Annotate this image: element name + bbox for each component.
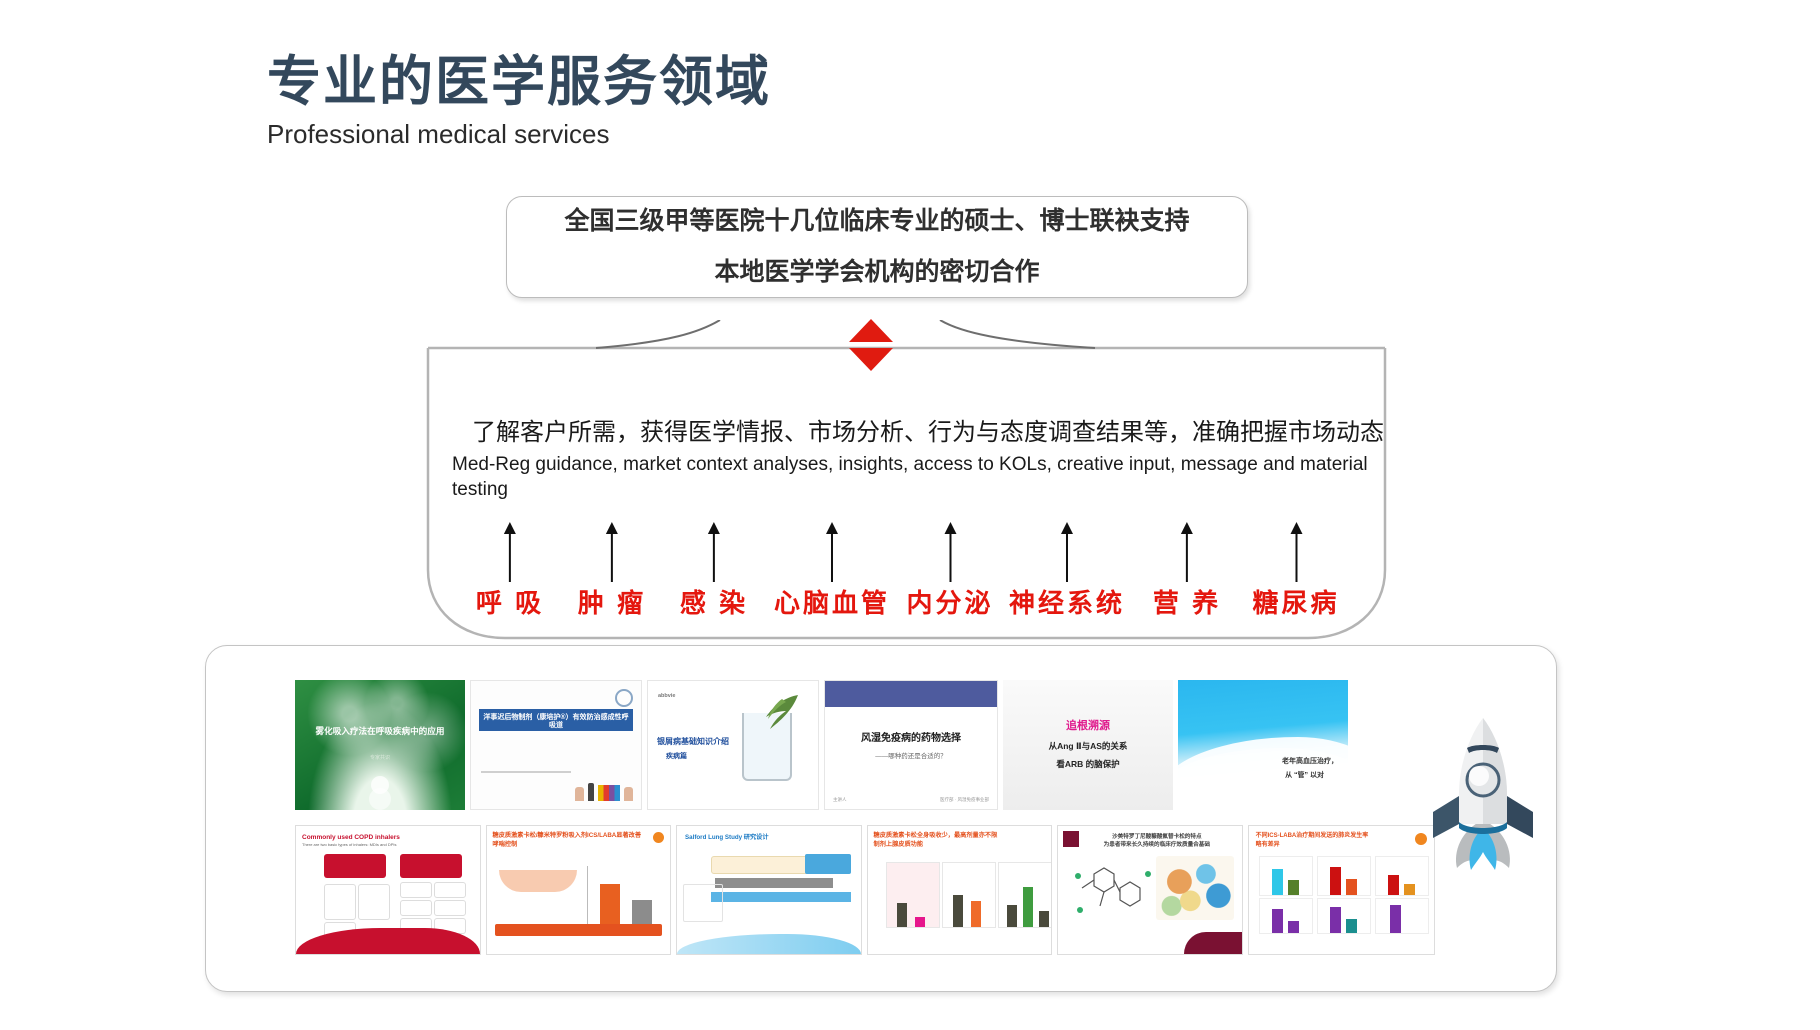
category-label: 糖尿病 (1252, 588, 1339, 618)
thumb-line-3: 看ARB 的脑保护 (1003, 760, 1173, 770)
thumb-title: 风湿免疫病的药物选择 (825, 733, 997, 745)
thumb-title: Salford Lung Study 研究设计 (685, 834, 769, 841)
mini-chart (1317, 898, 1371, 934)
category-oncology: 肿 瘤 (578, 583, 646, 620)
bar (1346, 919, 1357, 933)
mini-chart (1317, 856, 1371, 896)
diagram-cell (434, 882, 466, 898)
page-subtitle: Professional medical services (267, 119, 771, 150)
thumbnail-row-2: Commonly used COPD inhalers There are tw… (295, 825, 1435, 955)
double-arrow-icon (849, 319, 893, 371)
thumb-title: 不同ICS-LABA治疗期间发送的肺炎发生率 (1256, 833, 1410, 840)
footer-wave (677, 934, 861, 954)
thumb-line-2: 从 “管” 以对 (1285, 772, 1324, 780)
divider (481, 771, 571, 773)
mini-chart (1259, 898, 1313, 934)
people-icons (575, 783, 633, 801)
thumb-title-2: 略有差异 (1256, 842, 1410, 849)
chart-panel (942, 862, 996, 928)
top-statement-box: 全国三级甲等医院十几位临床专业的硕士、博士联袂支持 本地医学学会机构的密切合作 (506, 196, 1248, 298)
title-block: 专业的医学服务领域 Professional medical services (267, 55, 771, 150)
arrow-stem-icon (611, 532, 613, 582)
rocket-icon (1423, 712, 1543, 882)
footer-swoosh (1184, 932, 1242, 954)
thumbnail-pneumonia-rates[interactable]: 不同ICS-LABA治疗期间发送的肺炎发生率 略有差异 (1248, 825, 1435, 955)
diagram-cell (400, 882, 432, 898)
bubble-decoration (371, 776, 389, 794)
brand-logo-icon (615, 689, 633, 707)
thumb-subtitle: 疾病篇 (666, 753, 687, 761)
molecule-diagram (1070, 862, 1156, 924)
category-label: 感 染 (680, 588, 748, 618)
summary-banner (495, 924, 663, 936)
thumb-title: 银屑病基础知识介绍 (657, 737, 729, 746)
thumbnail-arb[interactable]: 追根溯源 从Ang Ⅱ与AS的关系 看ARB 的脑保护 (1003, 680, 1173, 810)
thumbnail-row-1: 雾化吸入疗法在呼吸疾病中的应用 专家共识 洋事迟后物制剂（康培护®）有效防治感成… (295, 680, 1435, 810)
bar (1007, 905, 1017, 927)
person-icon (575, 787, 584, 801)
arrow-stem-icon (949, 532, 951, 582)
category-label: 内分泌 (906, 588, 993, 618)
category-neurology: 神经系统 (1009, 583, 1125, 620)
bar (600, 884, 620, 928)
bar (1272, 909, 1283, 933)
category-respiratory: 呼 吸 (476, 583, 544, 620)
bar (1039, 911, 1049, 927)
illustration (499, 870, 577, 892)
diagram-node (805, 854, 851, 874)
thumbnail-psoriasis[interactable]: abbvie 银屑病基础知识介绍 疾病篇 (647, 680, 819, 810)
arrow-stem-icon (509, 532, 511, 582)
thumbnail-copd-inhalers[interactable]: Commonly used COPD inhalers There are tw… (295, 825, 481, 955)
thumbnail-molecular-mechanism[interactable]: 沙美特罗丁尼酸糠酸氟替卡松的特点 为患者带来长久持续的临床疗效质量合基础 (1057, 825, 1243, 955)
diagram-panel (683, 884, 723, 922)
color-bars-icon (598, 785, 620, 801)
diagram-bar (711, 892, 851, 902)
bar (1023, 887, 1033, 927)
thumbnail-grid: 雾化吸入疗法在呼吸疾病中的应用 专家共识 洋事迟后物制剂（康培护®）有效防治感成… (295, 680, 1435, 960)
bar (1288, 880, 1299, 895)
diagram-cell (358, 884, 390, 920)
arrow-stem-icon (1066, 532, 1068, 582)
thumbnail-systemic-absorption[interactable]: 糖皮质激素卡松全身吸收少，最高剂量亦不限 制剂上腺皮质功能 (867, 825, 1053, 955)
thumb-title: 雾化吸入疗法在呼吸疾病中的应用 (305, 727, 455, 737)
diagram-cell (434, 900, 466, 916)
category-label: 呼 吸 (476, 588, 544, 618)
chart-panel (998, 862, 1052, 928)
brand-logo-icon (653, 832, 664, 843)
slide-canvas: 专业的医学服务领域 Professional medical services … (0, 0, 1820, 1030)
bar (953, 895, 963, 927)
person-icon (624, 787, 633, 801)
brand-block (1063, 831, 1079, 847)
diagram-cell (400, 900, 432, 916)
middle-text-en: Med-Reg guidance, market context analyse… (452, 453, 1392, 502)
arrow-stem-icon (713, 532, 715, 582)
category-diabetes: 糖尿病 (1252, 583, 1339, 620)
bar (1330, 907, 1341, 933)
bar (1390, 905, 1401, 933)
thumb-title-2: 为患者带来长久持续的临床疗效质量合基础 (1080, 842, 1234, 848)
category-endocrine: 内分泌 (906, 583, 993, 620)
category-label: 神经系统 (1009, 588, 1125, 618)
diagram-node (711, 856, 809, 874)
bar-chart (587, 866, 660, 929)
thumb-title: 沙美特罗丁尼酸糠酸氟替卡松的特点 (1080, 834, 1234, 840)
category-nutrition: 营 养 (1153, 583, 1221, 620)
category-arrow-row: 呼 吸 肿 瘤 感 染 心脑血管 内分泌 神经系统 (460, 510, 1390, 620)
thumb-line-2: 从Ang Ⅱ与AS的关系 (1003, 742, 1173, 752)
middle-description: 了解客户所需，获得医学情报、市场分析、行为与态度调查结果等，准确把握市场动态 M… (452, 418, 1392, 502)
page-title: 专业的医学服务领域 (267, 55, 771, 109)
thumbnail-rheumatology[interactable]: 风湿免疫病的药物选择 ——哪种药还是合适的？ 主讲人 医疗部 · 风湿免疫事业部 (824, 680, 998, 810)
arrow-stem-icon (831, 532, 833, 582)
bar (1388, 875, 1399, 895)
bar (1272, 869, 1283, 895)
thumb-subtitle: 专家共识 (309, 756, 451, 762)
arrow-down-icon (849, 348, 893, 371)
leaf-icon (756, 693, 800, 733)
thumb-title: Commonly used COPD inhalers (302, 834, 400, 841)
arrow-stem-icon (1186, 532, 1188, 582)
thumb-subtitle: ——哪种药还是合适的？ (825, 753, 997, 760)
top-box-line-1: 全国三级甲等医院十几位临床专业的硕士、博士联袂支持 (564, 209, 1189, 234)
category-label: 肿 瘤 (578, 588, 646, 618)
thumb-title: 老年高血压治疗， (1282, 758, 1338, 766)
bar (1288, 921, 1299, 933)
thumb-footer-left: 主讲人 (833, 797, 847, 803)
thumbnail-nebulizer[interactable]: 雾化吸入疗法在呼吸疾病中的应用 专家共识 (295, 680, 465, 810)
protein-structure-image (1156, 856, 1234, 920)
diagram-cell (324, 884, 356, 920)
chart-panel (886, 862, 940, 928)
person-icon (588, 783, 594, 801)
top-box-line-2: 本地医学学会机构的密切合作 (714, 260, 1039, 285)
diagram-arrow (715, 878, 833, 888)
thumb-title-2: 制剂上腺皮质功能 (874, 841, 924, 848)
bar (1404, 884, 1415, 895)
thumbnail-ics-laba-control[interactable]: 糖皮质激素卡松/糠米特罗粉吸入剂ICS/LABA显著改善 哮喘控制 (486, 825, 672, 955)
diagram-node (400, 854, 462, 878)
category-label: 心脑血管 (774, 588, 890, 618)
category-cardio-cerebrovascular: 心脑血管 (774, 583, 890, 620)
arrow-stem-icon (1295, 532, 1297, 582)
brand-name: abbvie (658, 693, 675, 699)
middle-text-cn: 了解客户所需，获得医学情报、市场分析、行为与态度调查结果等，准确把握市场动态 (452, 418, 1392, 448)
bar (971, 901, 981, 927)
mini-chart (1375, 856, 1429, 896)
bar (1330, 867, 1341, 895)
thumb-title: 糖皮质激素卡松/糠米特罗粉吸入剂ICS/LABA显著改善 (493, 832, 642, 839)
thumbnail-hypertension[interactable]: 老年高血压治疗， 从 “管” 以对 (1178, 680, 1348, 810)
thumb-title: 洋事迟后物制剂（康培护®）有效防治感成性呼吸道 (483, 714, 629, 730)
title-bar (825, 681, 997, 707)
diagram-node (324, 854, 386, 878)
thumb-title: 糖皮质激素卡松全身吸收少，最高剂量亦不限 (874, 832, 998, 839)
thumbnail-salford-lung-study[interactable]: Salford Lung Study 研究设计 (676, 825, 862, 955)
thumbnail-antiviral[interactable]: 洋事迟后物制剂（康培护®）有效防治感成性呼吸道 (470, 680, 642, 810)
thumb-subtitle: There are two basic types of inhalers: M… (302, 843, 396, 848)
mini-chart (1375, 898, 1429, 934)
bar (1346, 879, 1357, 895)
thumb-footer-right: 医疗部 · 风湿免疫事业部 (940, 797, 989, 803)
arrow-up-icon (849, 319, 893, 342)
bar (915, 917, 925, 927)
thumb-title: 追根溯源 (1003, 720, 1173, 733)
category-infection: 感 染 (680, 583, 748, 620)
category-label: 营 养 (1153, 588, 1221, 618)
thumb-title-2: 哮喘控制 (493, 841, 518, 848)
mini-chart (1259, 856, 1313, 896)
bar (897, 903, 907, 927)
